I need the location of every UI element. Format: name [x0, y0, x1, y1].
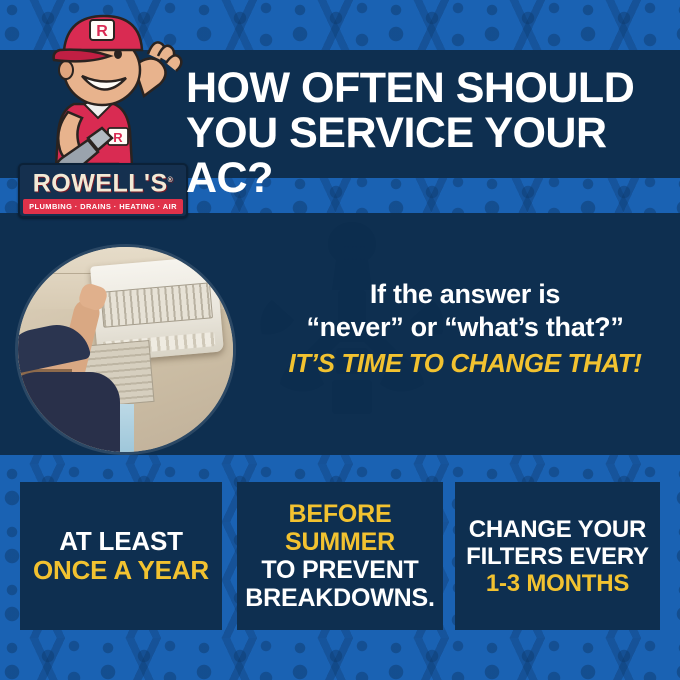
middle-line-1: If the answer is [260, 278, 670, 311]
headline-line-1: HOW OFTEN SHOULD [186, 64, 634, 112]
logo-brand-text: ROWELL'S [33, 169, 168, 197]
logo-tagline: PLUMBING · DRAINS · HEATING · AIR [23, 199, 183, 214]
tip-card-1-line-1: AT LEAST [28, 527, 214, 556]
middle-line-2: “never” or “what’s that?” [260, 311, 670, 344]
photo-ac-grille [100, 282, 213, 327]
tip-card-change-filters: CHANGE YOUR FILTERS EVERY 1-3 MONTHS [455, 482, 660, 630]
logo-wordmark: ROWELL'S® [18, 167, 188, 195]
page-title: HOW OFTEN SHOULD YOU SERVICE YOUR AC? [186, 66, 666, 201]
tip-card-2-line-1: BEFORE SUMMER [245, 500, 435, 556]
logo-trademark: ® [168, 177, 174, 184]
tips-card-row: AT LEAST ONCE A YEAR BEFORE SUMMER TO PR… [0, 482, 680, 632]
photo-technician-body [18, 372, 120, 452]
middle-line-3: IT’S TIME TO CHANGE THAT! [260, 346, 670, 380]
tip-card-2-line-3: BREAKDOWNS. [245, 584, 435, 612]
svg-text:R: R [113, 130, 123, 145]
tip-card-1-line-2: ONCE A YEAR [28, 556, 214, 585]
middle-message: If the answer is “never” or “what’s that… [260, 278, 670, 380]
headline-line-2: YOU SERVICE YOUR AC? [186, 111, 666, 201]
infographic-poster: R R ROWELL'S® PLUMBING · DRAINS · HEATIN… [0, 0, 680, 680]
tip-card-before-summer: BEFORE SUMMER TO PREVENT BREAKDOWNS. [237, 482, 443, 630]
rowells-logo[interactable]: ROWELL'S® PLUMBING · DRAINS · HEATING · … [18, 163, 188, 218]
svg-text:R: R [96, 23, 108, 40]
ac-service-photo [18, 247, 233, 452]
tip-card-at-least-once-a-year: AT LEAST ONCE A YEAR [20, 482, 222, 630]
tip-card-3-line-1: CHANGE YOUR [463, 516, 652, 543]
tip-card-3-line-2: FILTERS EVERY [463, 543, 652, 570]
tip-card-2-line-2: TO PREVENT [245, 556, 435, 584]
tip-card-3-line-3: 1-3 MONTHS [463, 570, 652, 597]
